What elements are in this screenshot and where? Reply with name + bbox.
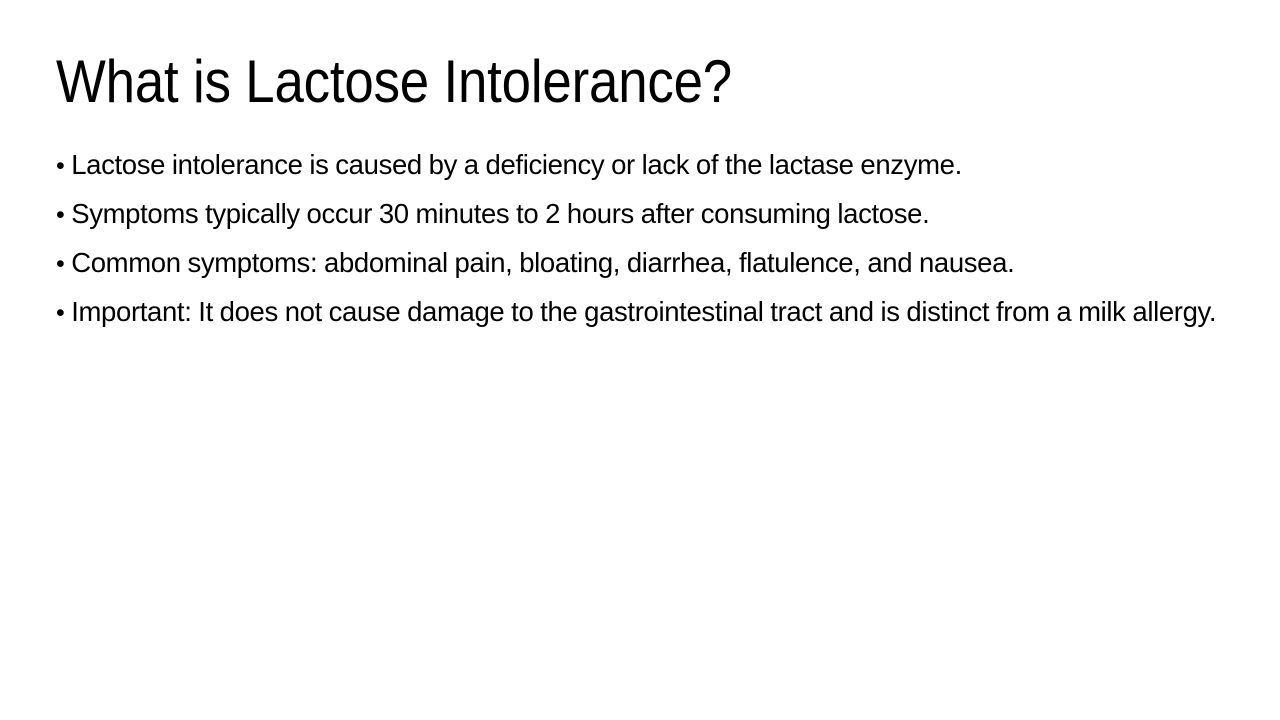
- bullet-point-icon: •: [56, 250, 64, 278]
- page-title: What is Lactose Intolerance?: [56, 48, 1086, 116]
- list-item: • Lactose intolerance is caused by a def…: [56, 145, 1228, 186]
- bullet-point-icon: •: [56, 201, 64, 229]
- bullet-point-icon: •: [56, 299, 64, 327]
- list-item-text: Lactose intolerance is caused by a defic…: [71, 149, 962, 180]
- list-item: • Important: It does not cause damage to…: [56, 292, 1228, 333]
- slide-canvas: What is Lactose Intolerance? • Lactose i…: [0, 0, 1280, 720]
- slide-body-bullet-list: • Lactose intolerance is caused by a def…: [56, 145, 1228, 333]
- slide-title-container: What is Lactose Intolerance?: [56, 48, 1226, 116]
- list-item: • Common symptoms: abdominal pain, bloat…: [56, 243, 1228, 284]
- bullet-point-icon: •: [56, 152, 64, 180]
- list-item-text: Symptoms typically occur 30 minutes to 2…: [71, 198, 929, 229]
- list-item-text: Important: It does not cause damage to t…: [71, 296, 1216, 327]
- list-item-text: Common symptoms: abdominal pain, bloatin…: [71, 247, 1014, 278]
- list-item: • Symptoms typically occur 30 minutes to…: [56, 194, 1228, 235]
